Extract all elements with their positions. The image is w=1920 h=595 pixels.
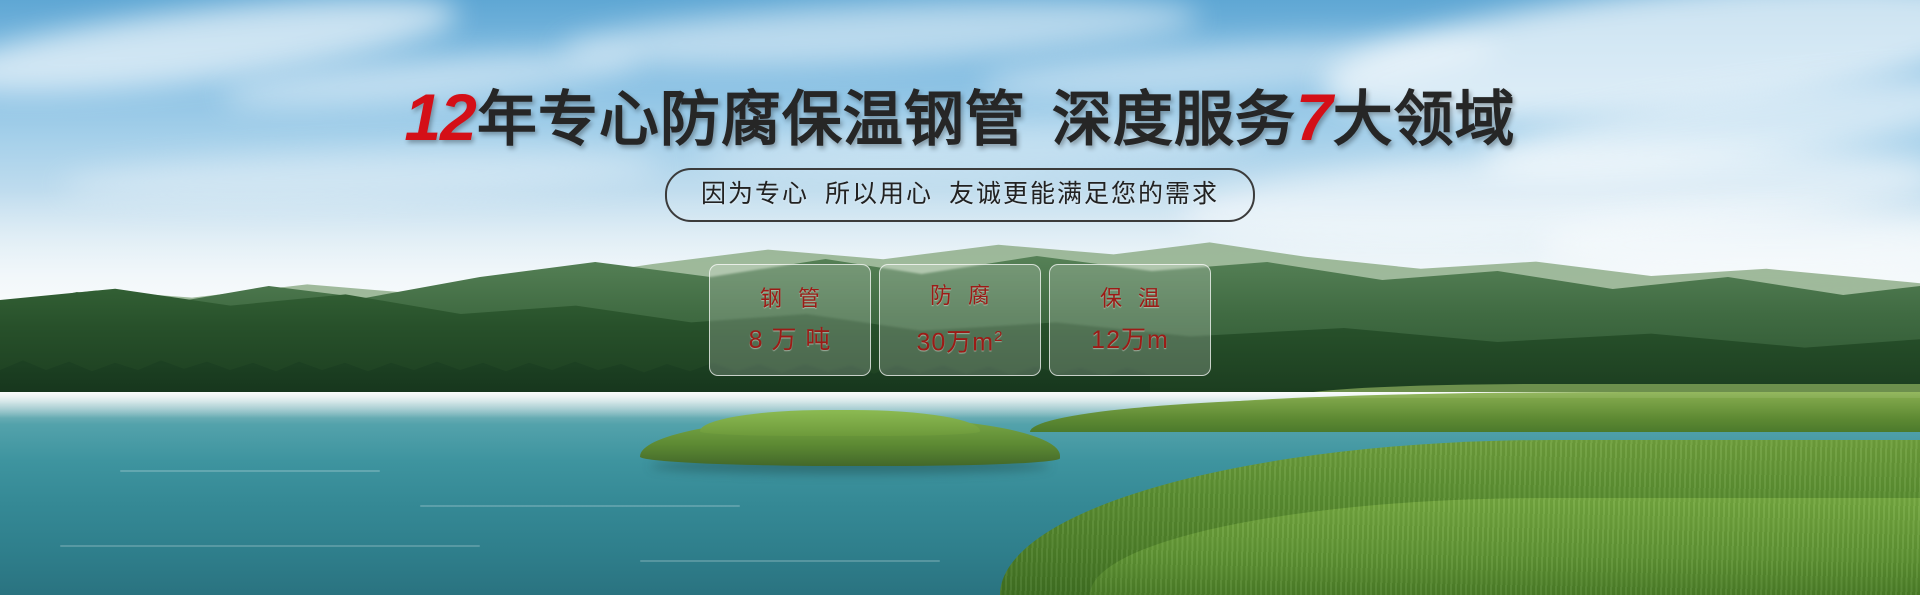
subtitle-part-1: 因为专心 [701,180,809,208]
stat-card-value-text: 8 万 吨 [749,326,832,354]
water-ripple [420,505,740,507]
headline-text-tertiary: 大领域 [1333,86,1516,153]
headline: 12年专心防腐保温钢管深度服务7大领域 [0,86,1920,151]
stat-card-anticorrosion: 防 腐 30万m2 [879,264,1041,376]
stat-card-value-superscript: 2 [994,328,1003,345]
stat-card-title: 防 腐 [925,283,995,309]
stat-card-group: 钢 管 8 万 吨 防 腐 30万m2 保 温 12万m [709,264,1211,376]
headline-text-primary: 年专心防腐保温钢管 [477,86,1026,153]
subtitle-pill: 因为专心所以用心友诚更能满足您的需求 [665,168,1255,222]
stat-card-title: 保 温 [1095,286,1165,312]
headline-fields-number: 7 [1296,80,1332,154]
stat-card-insulation: 保 温 12万m [1049,264,1211,376]
stat-card-value: 30万m2 [917,323,1004,356]
water-ripple [640,560,940,562]
headline-text-secondary: 深度服务 [1052,86,1296,153]
water-ripple [120,470,380,472]
stat-card-title: 钢 管 [755,286,825,312]
stat-card-value: 12万m [1091,326,1169,354]
subtitle-part-2: 所以用心 [825,180,933,208]
subtitle-part-3: 友诚更能满足您的需求 [949,180,1219,208]
hero-banner: 12年专心防腐保温钢管深度服务7大领域 因为专心所以用心友诚更能满足您的需求 钢… [0,0,1920,595]
headline-years-number: 12 [404,80,475,154]
water-ripple [60,545,480,547]
stat-card-steel-pipe: 钢 管 8 万 吨 [709,264,871,376]
stat-card-value-text: 30万m [917,329,995,357]
stat-card-value: 8 万 吨 [749,326,832,354]
stat-card-value-text: 12万m [1091,326,1169,354]
